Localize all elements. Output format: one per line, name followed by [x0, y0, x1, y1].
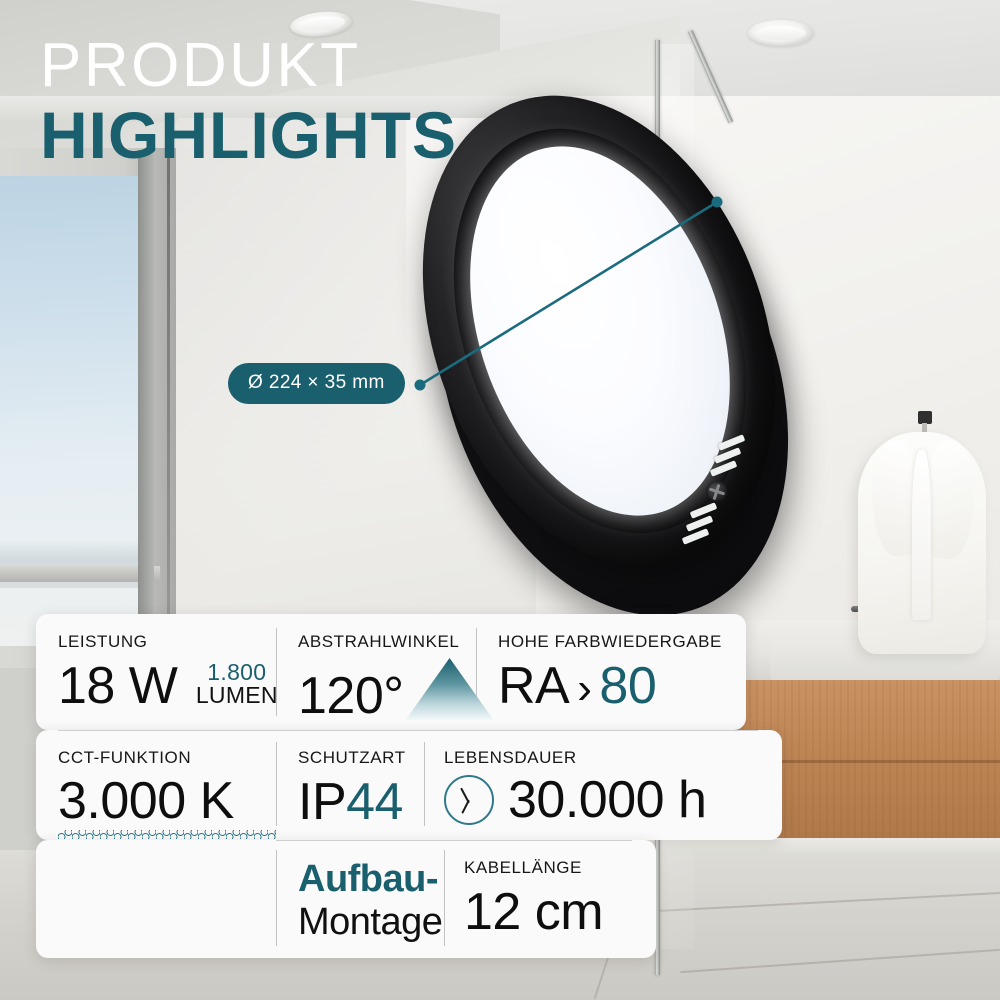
- montage-line-2: Montage: [298, 901, 442, 944]
- cell-divider: [276, 850, 277, 946]
- panel-divider: [276, 840, 632, 841]
- page-title: PRODUKT HIGHLIGHTS: [40, 34, 457, 171]
- spec-value: 120°: [298, 670, 404, 722]
- spec-label: HOHE FARBWIEDERGABE: [498, 632, 722, 652]
- window-rail: [0, 566, 160, 582]
- bathrobe-lapel: [912, 450, 931, 620]
- ceiling-spotlight-icon: [748, 20, 814, 46]
- dimension-badge: Ø 224 × 35 mm: [228, 363, 405, 404]
- clock-icon: [444, 775, 494, 825]
- spec-farbwiedergabe: HOHE FARBWIEDERGABE RA›80: [498, 632, 722, 712]
- montage-line-1: Aufbau-: [298, 858, 442, 901]
- spec-leistung: LEISTUNG 18 W 1.800 LUMEN: [58, 632, 278, 712]
- screw-icon: [706, 481, 728, 502]
- spec-lebensdauer: LEBENSDAUER 30.000 h: [444, 748, 706, 826]
- wall-corner-edge: [167, 130, 170, 670]
- greater-than-icon: ›: [577, 664, 591, 713]
- spec-kabellaenge: KABELLÄNGE 12 cm: [464, 858, 603, 938]
- cell-divider: [424, 742, 425, 826]
- lumen-unit: LUMEN: [196, 682, 278, 708]
- ra-value: 80: [599, 657, 656, 715]
- cell-divider: [444, 850, 445, 946]
- ip-prefix: IP: [298, 773, 346, 831]
- wave-separator-icon: [58, 830, 276, 839]
- spec-label: LEISTUNG: [58, 632, 278, 652]
- spec-label: LEBENSDAUER: [444, 748, 706, 768]
- spec-abstrahlwinkel: ABSTRAHLWINKEL 120°: [298, 632, 494, 722]
- ip-value: 44: [346, 773, 403, 831]
- panel-divider: [58, 730, 758, 731]
- cct-value-3000k: 3.000 K: [58, 774, 276, 829]
- spec-schutzart: SCHUTZART IP44: [298, 748, 406, 828]
- spec-label: KABELLÄNGE: [464, 858, 603, 878]
- ra-prefix: RA: [498, 657, 569, 715]
- spec-montageart: Aufbau- Montage: [298, 858, 442, 943]
- window-mullion: [138, 150, 154, 668]
- spec-value: 18 W: [58, 660, 177, 712]
- spotlight-lens: [756, 26, 806, 41]
- lumen-number: 1.800: [207, 659, 266, 685]
- spec-label: SCHUTZART: [298, 748, 406, 768]
- title-line-1: PRODUKT: [40, 34, 457, 97]
- spec-value: 12 cm: [464, 886, 603, 938]
- lumen-group: 1.800 LUMEN: [196, 661, 278, 708]
- spec-value: 30.000 h: [508, 774, 706, 826]
- beam-angle-triangle-icon: [406, 658, 494, 720]
- spec-label: ABSTRAHLWINKEL: [298, 632, 494, 652]
- spec-label: CCT-FUNKTION: [58, 748, 276, 768]
- product-led-panel: [400, 60, 800, 620]
- title-line-2: HIGHLIGHTS: [40, 101, 457, 170]
- cell-divider: [276, 742, 277, 826]
